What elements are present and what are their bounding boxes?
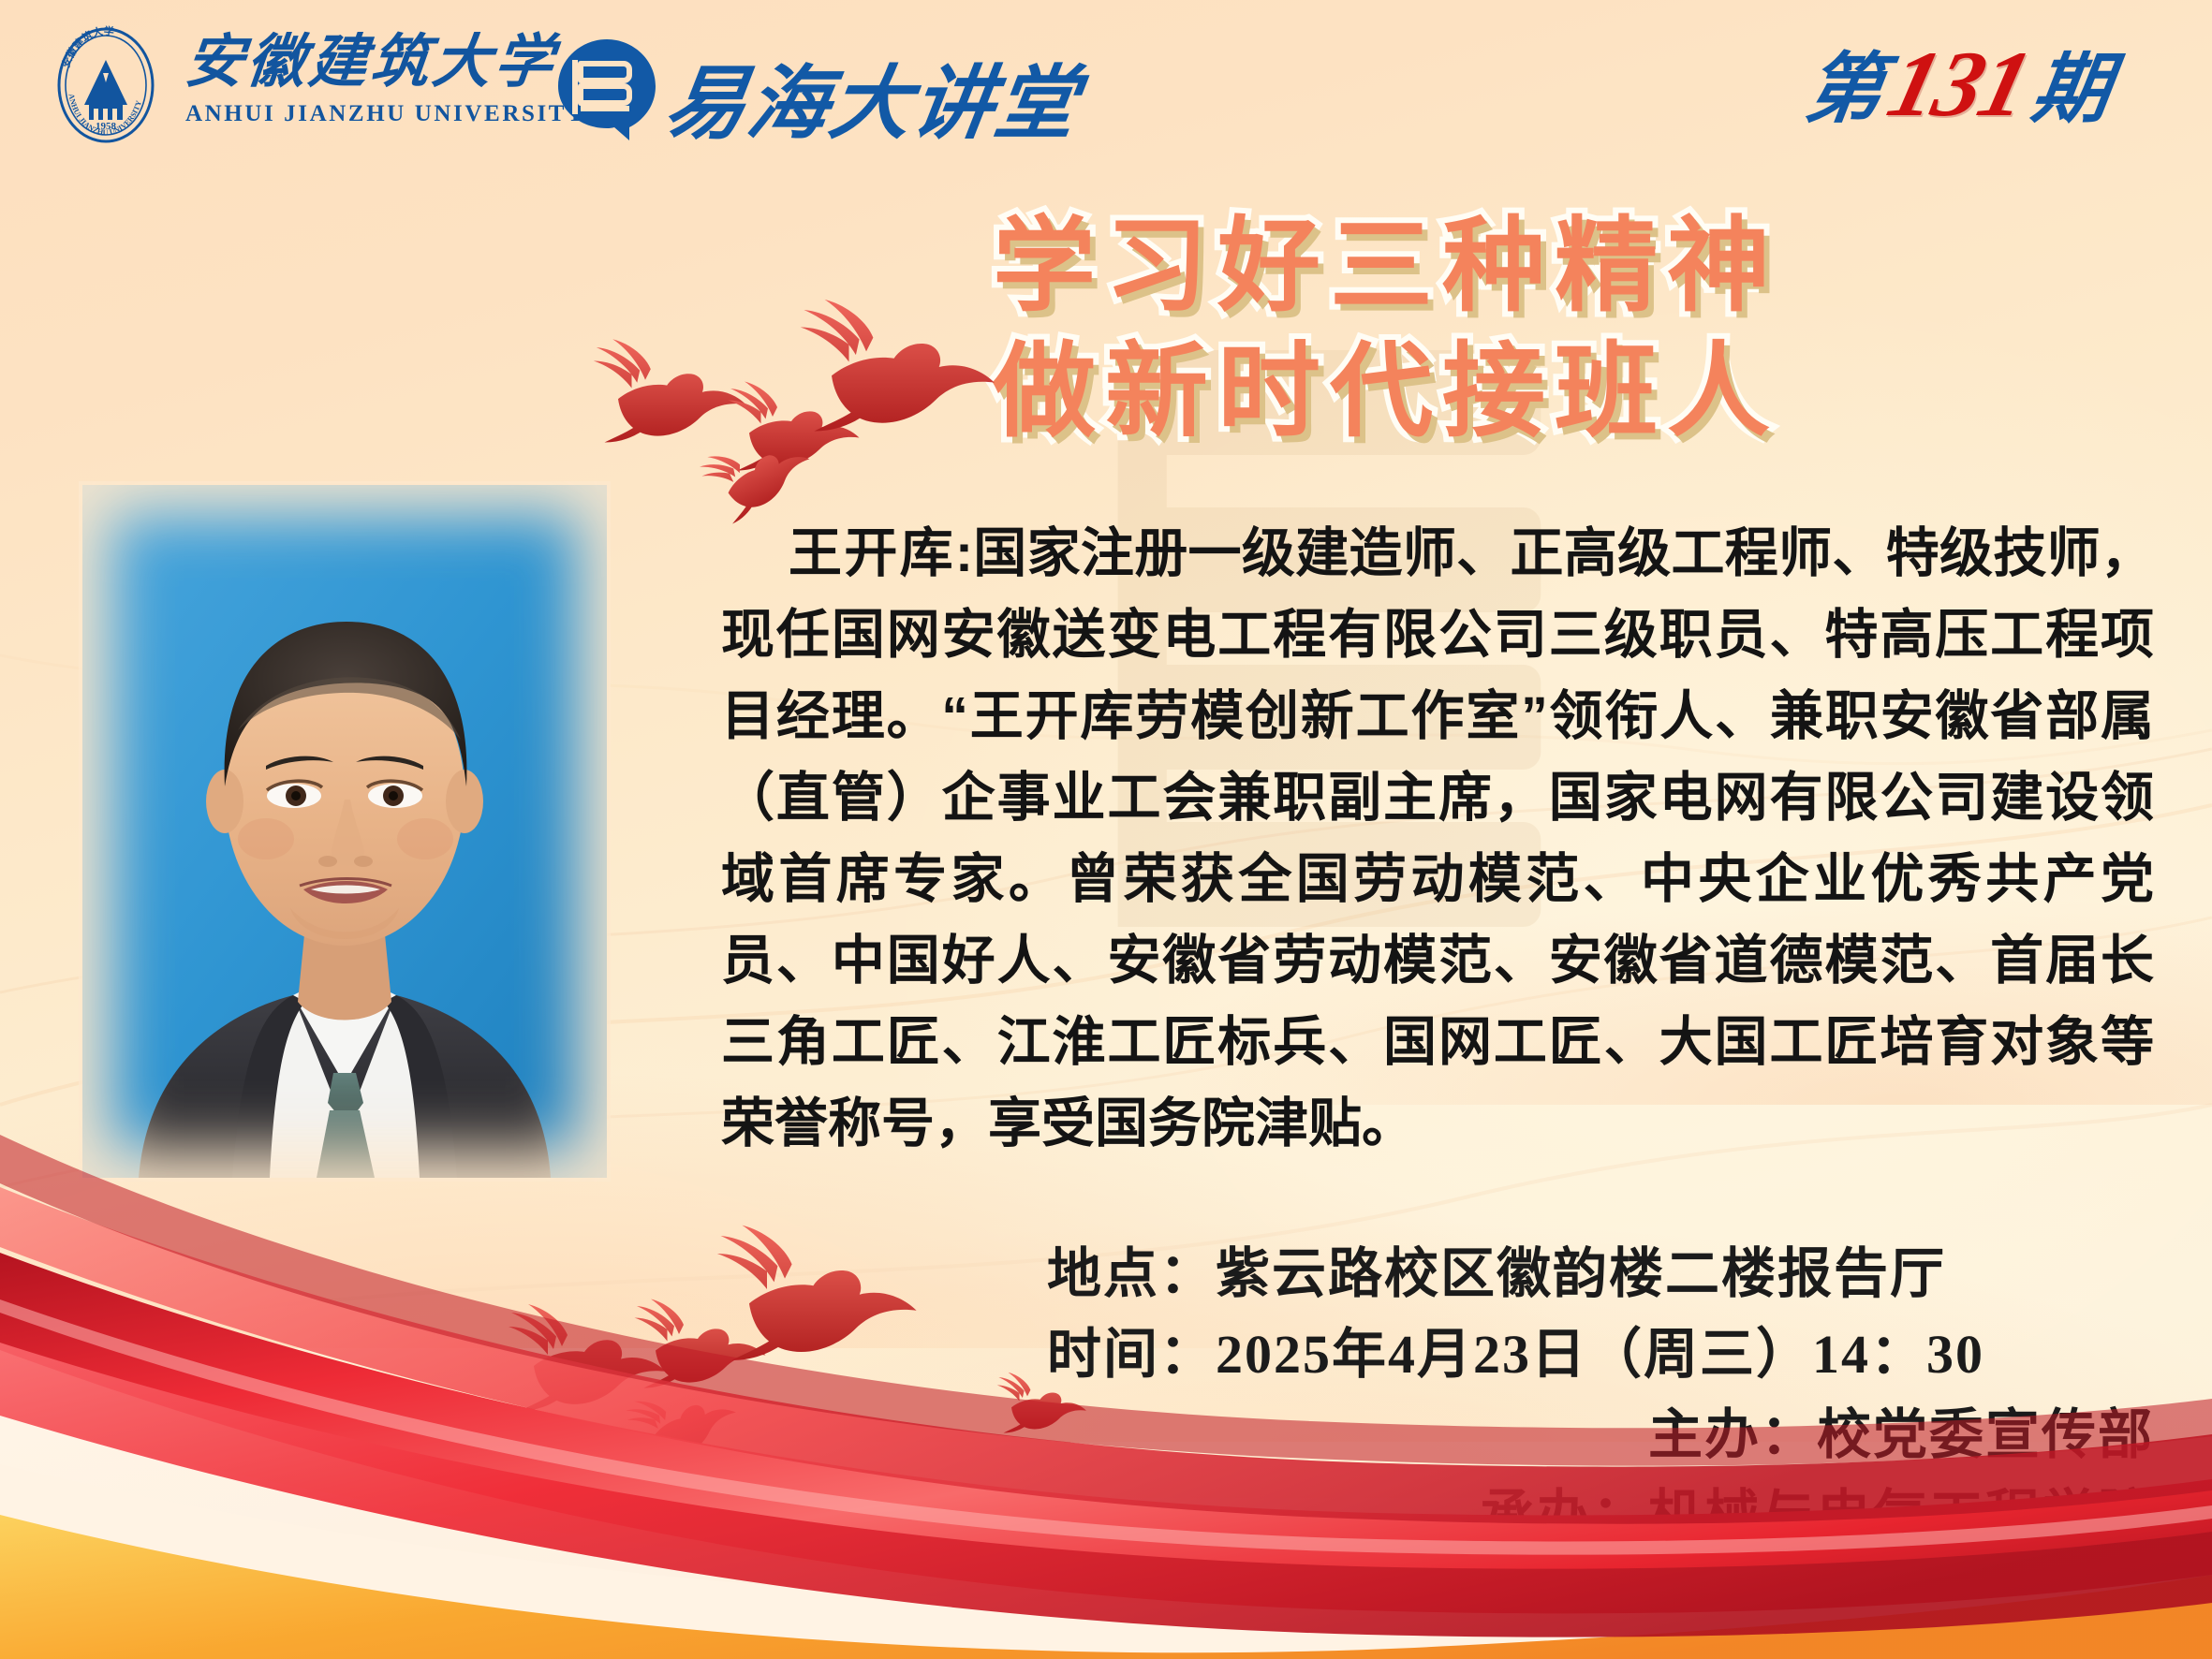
speaker-bio: 王开库:国家注册一级建造师、正高级工程师、特级技师，现任国网安徽送变电工程有限公…	[721, 513, 2154, 1165]
co-organizer-row: 承办：机械与电气工程学院	[1124, 1475, 2154, 1556]
venue-label: 地点：	[1047, 1243, 1216, 1304]
dove-lower-4	[622, 1370, 745, 1473]
dove-upper-2	[729, 382, 860, 471]
poster-header: 1958 安徽建筑大学 ANHUI JIANZHU UNIVERSITY 安徽建…	[0, 0, 2212, 169]
university-name-cn: 安徽建筑大学	[183, 34, 536, 92]
title-line-2: 做新时代接班人	[993, 330, 2145, 455]
issue-suffix: 期	[2027, 26, 2119, 138]
issue-badge: 第131期	[1807, 26, 2111, 138]
co-organizer-value: 机械与电气工程学院	[1648, 1485, 2154, 1546]
university-name-block: 安徽建筑大学 ANHUI JIANZHU UNIVERSITY	[185, 34, 532, 127]
issue-prefix: 第	[1800, 26, 1893, 138]
speaker-name: 王开库	[789, 523, 955, 583]
co-organizer-label: 承办：	[1480, 1485, 1648, 1546]
poster-canvas: 1958 安徽建筑大学 ANHUI JIANZHU UNIVERSITY 安徽建…	[0, 0, 2212, 1659]
speaker-name-separator: :	[955, 523, 973, 583]
poster-title: 学习好三种精神 做新时代接班人	[993, 204, 2145, 455]
university-seal-icon: 1958 安徽建筑大学 ANHUI JIANZHU UNIVERSITY	[45, 24, 167, 146]
event-details: 地点：紫云路校区徽韵楼二楼报告厅 时间：2025年4月23日（周三）14：30	[1047, 1234, 2152, 1395]
time-row: 时间：2025年4月23日（周三）14：30	[1047, 1314, 2152, 1395]
time-value: 2025年4月23日（周三）14：30	[1216, 1324, 1984, 1385]
organizer-row: 主办：校党委宣传部	[1124, 1395, 2154, 1475]
lecture-series-title: 易海大讲堂	[658, 37, 1087, 154]
organizer-label: 主办：	[1648, 1404, 1817, 1465]
event-hosts: 主办：校党委宣传部 承办：机械与电气工程学院	[1124, 1395, 2154, 1556]
university-name-en: ANHUI JIANZHU UNIVERSITY	[185, 101, 532, 127]
venue-value: 紫云路校区徽韵楼二楼报告厅	[1216, 1243, 1946, 1304]
speaker-portrait-image	[82, 485, 607, 1178]
issue-number: 131	[1879, 30, 2041, 138]
dove-upper-1	[594, 339, 745, 442]
lecture-series-mark-icon	[554, 36, 659, 140]
dove-lower-1	[509, 1304, 666, 1411]
title-line-1: 学习好三种精神	[993, 204, 2145, 330]
speaker-bio-text: 国家注册一级建造师、正高级工程师、特级技师，现任国网安徽送变电工程有限公司三级职…	[721, 523, 2154, 1153]
dove-upper-3	[801, 300, 995, 432]
venue-row: 地点：紫云路校区徽韵楼二楼报告厅	[1047, 1234, 2152, 1314]
organizer-value: 校党委宣传部	[1817, 1404, 2154, 1465]
dove-upper-4	[696, 418, 821, 527]
time-label: 时间：	[1047, 1324, 1216, 1385]
dove-lower-2	[635, 1299, 766, 1388]
speaker-portrait	[82, 485, 607, 1178]
dove-lower-3	[717, 1226, 917, 1360]
